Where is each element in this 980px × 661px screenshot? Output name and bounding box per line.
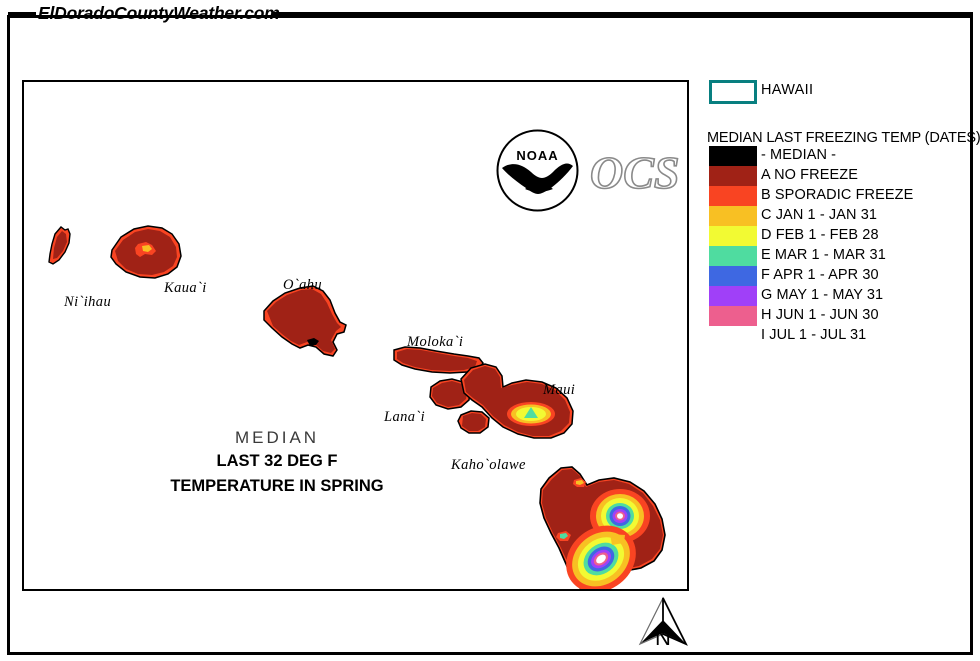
island-label-lanai: Lana`i xyxy=(384,409,425,426)
island-label-niihau: Ni`ihau xyxy=(64,294,111,311)
legend-color-swatch xyxy=(709,306,757,326)
legend-area-key: HAWAII xyxy=(707,78,973,112)
legend-color-swatch xyxy=(709,186,757,206)
legend-row-label: - MEDIAN - xyxy=(761,147,836,163)
island-kauai xyxy=(111,226,181,278)
legend-row-label: B SPORADIC FREEZE xyxy=(761,187,913,203)
island-niihau xyxy=(49,227,70,264)
map-legend: HAWAII MEDIAN LAST FREEZING TEMP (DATES)… xyxy=(707,78,973,112)
legend-row-list: - MEDIAN -A NO FREEZEB SPORADIC FREEZEC … xyxy=(707,146,973,346)
legend-row: F APR 1 - APR 30 xyxy=(707,266,973,286)
legend-color-swatch xyxy=(709,206,757,226)
legend-row-label: E MAR 1 - MAR 31 xyxy=(761,247,886,263)
legend-row: - MEDIAN - xyxy=(707,146,973,166)
island-label-oahu: O`ahu xyxy=(283,277,322,294)
legend-color-swatch xyxy=(709,166,757,186)
legend-row-label: D FEB 1 - FEB 28 xyxy=(761,227,879,243)
legend-row-label: H JUN 1 - JUN 30 xyxy=(761,307,879,323)
map-frame: NOAA OCS MEDIAN LAST 32 DEG F TEMPERATUR… xyxy=(22,80,689,591)
legend-color-swatch xyxy=(709,266,757,286)
island-label-hawaii: Hawai`i xyxy=(505,589,555,591)
island-label-maui: Maui xyxy=(543,382,575,399)
map-title: MEDIAN LAST 32 DEG F TEMPERATURE IN SPRI… xyxy=(142,427,412,499)
legend-row-label: I JUL 1 - JUL 31 xyxy=(761,327,866,343)
legend-row: H JUN 1 - JUN 30 xyxy=(707,306,973,326)
legend-color-swatch xyxy=(709,146,757,166)
legend-row: C JAN 1 - JAN 31 xyxy=(707,206,973,226)
legend-row-label: F APR 1 - APR 30 xyxy=(761,267,879,283)
legend-row-label: A NO FREEZE xyxy=(761,167,858,183)
map-title-line-3: TEMPERATURE IN SPRING xyxy=(142,474,412,499)
legend-color-swatch xyxy=(709,226,757,246)
island-label-kahoolawe: Kaho`olawe xyxy=(451,457,526,474)
map-title-line-1: MEDIAN xyxy=(142,427,412,449)
legend-row: G MAY 1 - MAY 31 xyxy=(707,286,973,306)
legend-row: D FEB 1 - FEB 28 xyxy=(707,226,973,246)
legend-row: I JUL 1 - JUL 31 xyxy=(707,326,973,346)
legend-row-label: C JAN 1 - JAN 31 xyxy=(761,207,877,223)
island-kahoolawe xyxy=(458,411,489,433)
north-label: N xyxy=(633,625,693,651)
island-label-kauai: Kaua`i xyxy=(164,280,207,297)
legend-row: A NO FREEZE xyxy=(707,166,973,186)
island-label-molokai: Moloka`i xyxy=(407,334,463,351)
ocs-logo-text: OCS xyxy=(590,147,679,198)
noaa-logo-text: NOAA xyxy=(516,148,558,163)
island-hawaii xyxy=(540,467,665,589)
map-title-line-2: LAST 32 DEG F xyxy=(142,449,412,474)
noaa-logo-icon: NOAA xyxy=(495,128,580,213)
legend-color-swatch xyxy=(709,246,757,266)
island-oahu xyxy=(264,286,346,356)
legend-row: E MAR 1 - MAR 31 xyxy=(707,246,973,266)
legend-row-label: G MAY 1 - MAY 31 xyxy=(761,287,883,303)
legend-row: B SPORADIC FREEZE xyxy=(707,186,973,206)
legend-title: MEDIAN LAST FREEZING TEMP (DATES) xyxy=(707,130,980,146)
legend-color-swatch xyxy=(709,286,757,306)
ocs-logo-icon: OCS xyxy=(586,144,689,199)
hawaii-outline-swatch xyxy=(709,80,757,104)
hawaii-key-label: HAWAII xyxy=(761,82,813,98)
